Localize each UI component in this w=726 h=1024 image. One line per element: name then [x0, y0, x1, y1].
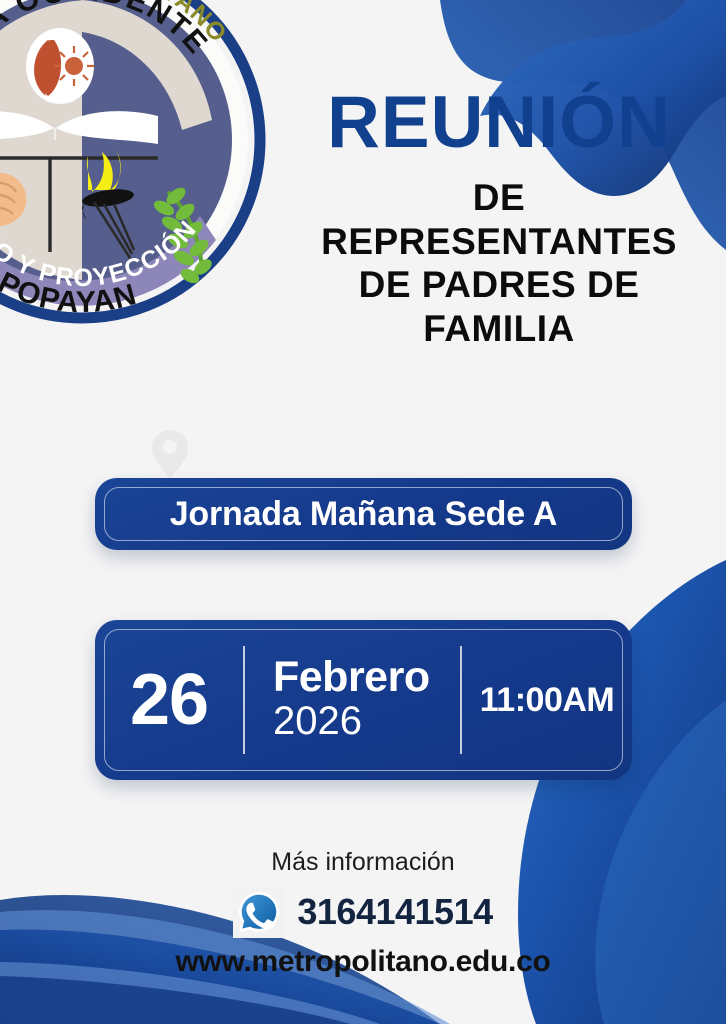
date-banner[interactable]: 26 Febrero 2026 11:00AM: [95, 620, 632, 780]
school-logo: UCATIVA METROPOLITANO RIA OCCIDENTE ERZO…: [0, 0, 282, 340]
phone-number[interactable]: 3164141514: [297, 891, 492, 933]
map-pin-icon: [148, 428, 192, 480]
jornada-banner[interactable]: Jornada Mañana Sede A: [95, 478, 632, 550]
headline-block: REUNIÓN DE REPRESENTANTES DE PADRES DE F…: [284, 88, 714, 351]
whatsapp-icon[interactable]: [233, 886, 285, 938]
website-url[interactable]: www.metropolitano.edu.co: [0, 945, 726, 979]
date-day: 26: [95, 659, 243, 741]
date-row: 26 Febrero 2026 11:00AM: [95, 620, 632, 780]
poster-canvas: UCATIVA METROPOLITANO RIA OCCIDENTE ERZO…: [0, 0, 726, 1024]
page-subtitle: DE REPRESENTANTES DE PADRES DE FAMILIA: [284, 176, 714, 351]
subtitle-line-1: DE: [284, 176, 714, 220]
phone-row[interactable]: 3164141514: [0, 886, 726, 938]
more-info-label: Más información: [0, 848, 726, 877]
date-month: Febrero: [273, 656, 460, 699]
jornada-banner-label: Jornada Mañana Sede A: [95, 478, 632, 550]
subtitle-line-4: FAMILIA: [284, 307, 714, 351]
subtitle-line-3: DE PADRES DE: [284, 263, 714, 307]
date-time: 11:00AM: [462, 681, 632, 720]
page-title: REUNIÓN: [284, 88, 714, 158]
date-month-block: Febrero 2026: [245, 656, 460, 744]
subtitle-line-2: REPRESENTANTES: [284, 220, 714, 264]
date-year: 2026: [273, 699, 460, 744]
